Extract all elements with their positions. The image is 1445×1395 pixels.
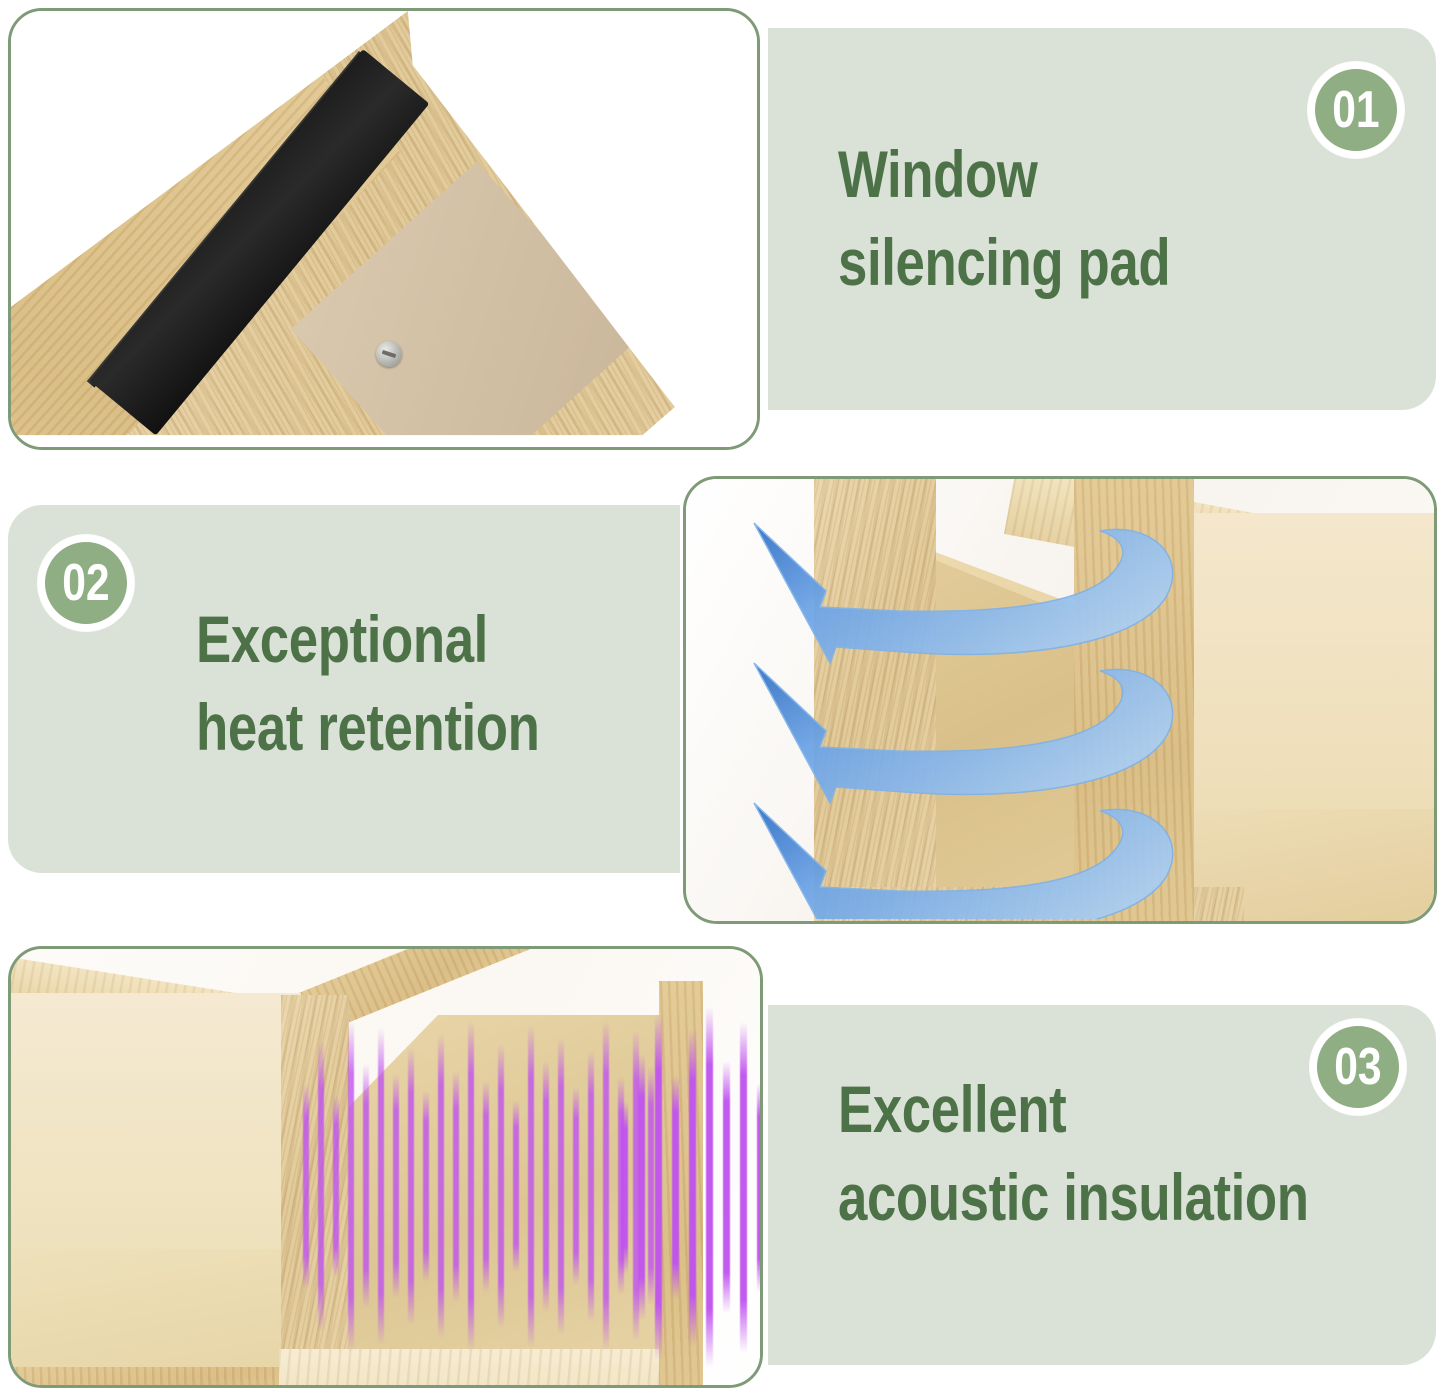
sound-wave-bar [655,1014,662,1360]
sound-wave-bar [348,1021,354,1351]
sound-wave-bar [558,1038,564,1335]
sound-wave-bar [706,1007,713,1367]
sound-wave-bar [303,1084,309,1289]
feature-title-3-line1: Excellent [838,1071,1066,1149]
sound-wave-bar [393,1074,399,1298]
sound-wave-bar [498,1044,504,1328]
sound-wave-bar [408,1048,414,1325]
feature-title-1-line1: Window [838,136,1037,214]
feature-text-panel-1: 01 Window silencing pad [768,28,1436,410]
sound-wave-bar [318,1041,324,1331]
feature-title-1-line2: silencing pad [838,224,1170,302]
badge-03: 03 [1310,1019,1406,1115]
badge-03-number: 03 [1334,1041,1381,1093]
badge-01-number: 01 [1332,84,1379,136]
feature-image-panel-1 [8,8,760,450]
sound-wave-bars-inside [303,1011,673,1371]
sound-wave-bar [468,1021,474,1351]
blue-curved-arrow-3 [754,803,1173,919]
sound-wave-bar [423,1091,429,1282]
sound-wave-bars-outside [621,1001,763,1381]
sound-wave-bar [528,1025,534,1348]
sound-wave-bar [543,1061,549,1312]
feature-text-panel-3: 03 Excellent acoustic insulation [768,1005,1436,1365]
feature-title-3-line2: acoustic insulation [838,1159,1309,1237]
feature-image-panel-2 [683,476,1437,924]
photo-background-mask [11,11,757,447]
sound-wave-bar [638,1054,645,1320]
feature-image-panel-3 [8,946,763,1388]
sound-wave-bar [378,1028,384,1345]
feature-title-2-line2: heat retention [196,689,540,767]
sound-wave-bar [689,1029,696,1346]
blue-curved-arrow-group [748,519,1308,919]
feature-text-panel-2: 02 Exceptional heat retention [8,505,680,873]
feature-title-2-line1: Exceptional [196,601,488,679]
blue-curved-arrow-2 [754,663,1173,803]
badge-02: 02 [38,535,134,631]
sound-wave-bar [621,1101,628,1274]
blue-curved-arrow-1 [754,523,1173,663]
sound-wave-bar [672,1076,679,1299]
sound-wave-bar [438,1034,444,1338]
sound-wave-bar [603,1021,609,1351]
heat-retention-illustration [686,479,1434,921]
sound-wave-bar [483,1081,489,1292]
sound-wave-bar [573,1087,579,1285]
sound-wave-bar [723,1061,730,1313]
sound-wave-bar [757,1083,763,1292]
sound-wave-bar [453,1071,459,1302]
badge-01: 01 [1308,62,1404,158]
sound-wave-bar [333,1095,339,1277]
sound-wave-bar [740,1022,747,1353]
sound-wave-bar [513,1100,519,1272]
badge-02-number: 02 [62,557,109,609]
acoustic-insulation-illustration [11,949,760,1385]
sound-wave-bar [363,1064,369,1308]
window-silencing-pad-photo [11,11,757,447]
sound-wave-bar [588,1051,594,1322]
pet-house-base-left [8,1367,301,1388]
